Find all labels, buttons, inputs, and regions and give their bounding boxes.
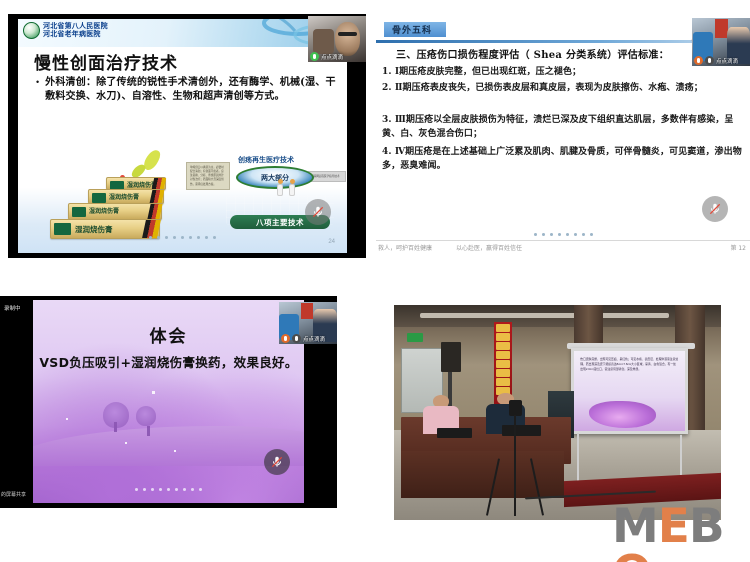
art-ellipse-label: 两大部分	[261, 173, 289, 183]
section-tag-label: 骨外五科	[392, 23, 432, 36]
box-green-tag	[92, 193, 106, 203]
dot	[143, 488, 146, 491]
panel-top-left: 河北省第八人民医院 河北省老年病医院 慢性创面治疗技术 • 外科清创：除了传统的…	[8, 14, 366, 258]
slide-chronic-wound: 河北省第八人民医院 河北省老年病医院 慢性创面治疗技术 • 外科清创：除了传统的…	[18, 19, 347, 253]
sparkle-icon	[125, 442, 127, 444]
dot	[149, 236, 152, 239]
hospital-logo: 河北省第八人民医院 河北省老年病医院	[23, 22, 108, 39]
dot	[590, 233, 593, 236]
tripod-leg	[514, 458, 516, 516]
laptop	[437, 428, 473, 439]
slide-progress-dots	[33, 488, 304, 491]
video-glasses-shape	[338, 32, 357, 36]
box-label: 湿润烧伤膏	[109, 192, 139, 201]
recording-label: 录制中	[4, 304, 21, 312]
art-note-box: 单纯创口以换药为主，必要时配合清创；有创面不愈者，应注意换、分析、查找原因并针对…	[186, 162, 230, 190]
participant-name: 点点滴滴	[716, 57, 738, 65]
microphone-muted-icon	[292, 334, 301, 343]
participant-video-tile[interactable]: 点点滴滴	[692, 18, 750, 66]
dot	[173, 236, 176, 239]
art-heading: 创疡再生医疗技术	[238, 155, 294, 165]
microphone-icon	[310, 52, 319, 61]
avatar-icon	[694, 56, 703, 65]
ceiling-light-strip	[420, 313, 669, 318]
loudspeaker-icon	[441, 342, 461, 372]
footer-page-number: 第 12	[730, 243, 746, 252]
tree-icon	[136, 406, 156, 426]
slide-page-number: 24	[328, 239, 335, 245]
microphone-muted-icon	[708, 202, 722, 216]
watermark-letter-m: M	[612, 503, 658, 550]
conference-room-photo: 伤口皮肤完整，出现可见压痕、呈红色；可见水疱、表皮层、处理渗液需注意处理，若出现…	[394, 305, 721, 520]
dot	[181, 236, 184, 239]
banner-char	[496, 369, 510, 377]
slide-title: 体会	[33, 322, 304, 347]
watermark-letter-o: O	[612, 550, 651, 562]
video-hand-shape	[313, 29, 334, 54]
projector-image-shape	[589, 401, 656, 428]
slide-body: VSD负压吸引+湿润烧伤膏换药，效果良好。	[33, 352, 304, 371]
microphone-muted-icon	[705, 56, 714, 65]
dot	[574, 233, 577, 236]
microphone-muted-icon	[270, 455, 284, 469]
footer-divider	[376, 240, 750, 241]
dot	[191, 488, 194, 491]
ointment-stack-graphic: 湿润烧伤膏 湿润烧伤膏 湿润烧伤膏 湿润烧伤膏	[50, 167, 172, 245]
projector-screen-text: 伤口皮肤完整，出现可见压痕、呈红色；可见水疱、表皮层、处理渗液需注意处理，若出现…	[580, 357, 678, 372]
box-label: 湿润烧伤膏	[89, 206, 119, 215]
screen-share-label: 的屏幕共享	[1, 491, 26, 498]
slide-progress-dots	[18, 236, 347, 239]
slide-item: 4. Ⅳ期压疮是在上述基础上广泛累及肌肉、肌腱及骨质，可伴骨髓炎，可见窦道，渗出…	[382, 146, 742, 173]
dot	[566, 233, 569, 236]
exit-sign-icon	[407, 333, 423, 342]
tripod-pole	[514, 415, 516, 459]
dot	[175, 488, 178, 491]
dot	[199, 488, 202, 491]
video-banner-shape	[301, 303, 313, 319]
banner-char	[496, 324, 510, 332]
hospital-emblem-icon	[23, 22, 40, 39]
art-band-label: 八项主要技术	[256, 217, 304, 228]
sparkle-icon	[66, 418, 68, 420]
participant-video-tile[interactable]: 点点滴滴	[308, 16, 366, 62]
dot	[213, 236, 216, 239]
participant-name-badge: 点点滴滴	[310, 52, 343, 61]
box-label: 湿润烧伤膏	[75, 224, 113, 235]
banner-char	[496, 342, 510, 350]
footer-mid-text: 以心赴医，赢得百姓信任	[456, 243, 522, 252]
banner-char	[496, 360, 510, 368]
dot	[183, 488, 186, 491]
panel-top-right: 骨外五科 三、压疮伤口损伤程度评估（ Shea 分类系统）评估标准： 1. Ⅰ期…	[376, 10, 750, 262]
bullet-marker: •	[36, 76, 39, 104]
participant-name: 点点滴滴	[321, 53, 343, 61]
avatar-icon	[281, 334, 290, 343]
tree-icon	[103, 402, 129, 428]
banner-char	[496, 333, 510, 341]
banner-char	[496, 351, 510, 359]
dot	[197, 236, 200, 239]
camera-icon	[509, 400, 523, 416]
participant-name: 点点滴滴	[303, 335, 325, 343]
panel-bottom-right: 伤口皮肤完整，出现可见压痕、呈红色；可见水疱、表皮层、处理渗液需注意处理，若出现…	[394, 305, 721, 520]
box-stripe	[150, 190, 165, 203]
ointment-box: 湿润烧伤膏	[68, 203, 162, 220]
slide-item: 1. Ⅰ期压疮皮肤完整，但已出现红斑，压之褪色；	[382, 66, 742, 80]
slide-heading: 三、压疮伤口损伤程度评估（ Shea 分类系统）评估标准：	[396, 46, 741, 61]
box-stripe	[152, 178, 166, 189]
box-stripe	[147, 204, 162, 219]
screenshot-root: 河北省第八人民医院 河北省老年病医院 慢性创面治疗技术 • 外科清创：除了传统的…	[0, 0, 750, 562]
dot	[157, 236, 160, 239]
participant-name-badge: 点点滴滴	[281, 334, 325, 343]
watermark-letter-b: B	[689, 503, 724, 550]
slide-progress-dots	[376, 233, 750, 236]
dot	[558, 233, 561, 236]
microphone-muted-icon	[311, 205, 325, 219]
doctor-figure-icon	[276, 179, 284, 197]
mute-indicator-button[interactable]	[702, 196, 728, 222]
dot	[534, 233, 537, 236]
dot	[542, 233, 545, 236]
mebo-watermark: MEBO	[612, 503, 750, 562]
dot	[205, 236, 208, 239]
slide-title: 慢性创面治疗技术	[34, 49, 178, 74]
slide-item: 2. Ⅱ期压疮表皮丧失，已损伤表皮层和真皮层，表现为皮肤擦伤、水疱、溃疡；	[382, 82, 742, 96]
bullet-text: 外科清创：除了传统的锐性手术清创外，还有酶学、机械(湿、干敷料交换、水刀)、自溶…	[45, 76, 336, 104]
participant-name-badge: 点点滴滴	[694, 56, 738, 65]
footer-left-text: 救人，呵护百姓健康	[378, 243, 432, 252]
dot	[550, 233, 553, 236]
banner-char	[496, 378, 510, 386]
dot	[159, 488, 162, 491]
sparkle-icon	[174, 450, 176, 452]
art-ellipse: 两大部分	[236, 166, 314, 189]
tripod-leg	[486, 458, 500, 515]
dot	[167, 488, 170, 491]
slide-item: 3. Ⅲ期压疮以全层皮肤损伤为特征，溃烂已深及皮下组织直达肌层，多数伴有感染，呈…	[382, 114, 742, 141]
section-tag: 骨外五科	[384, 22, 446, 37]
ointment-box: 湿润烧伤膏	[88, 189, 164, 204]
doctor-figure-icon	[288, 179, 296, 197]
mute-indicator-button[interactable]	[305, 199, 331, 225]
dot	[135, 488, 138, 491]
slide-experience: 体会 VSD负压吸引+湿润烧伤膏换药，效果良好。	[33, 300, 304, 503]
mute-indicator-button[interactable]	[264, 449, 290, 475]
participant-video-tile[interactable]: 点点滴滴	[279, 302, 337, 344]
dot	[582, 233, 585, 236]
box-green-tag	[72, 207, 86, 217]
hospital-name-line2: 河北省老年病医院	[43, 31, 108, 38]
slide-bullet: • 外科清创：除了传统的锐性手术清创外，还有酶学、机械(湿、干敷料交换、水刀)、…	[36, 76, 336, 104]
dot	[165, 236, 168, 239]
sparkle-icon	[152, 391, 155, 394]
watermark-letter-e: E	[658, 503, 689, 550]
dot	[151, 488, 154, 491]
dot	[189, 236, 192, 239]
box-green-tag	[54, 223, 71, 235]
projector-screen: 伤口皮肤完整，出现可见压痕、呈红色；可见水疱、表皮层、处理渗液需注意处理，若出现…	[571, 348, 689, 434]
panel-bottom-left: 录制中 的屏幕共享 体会 VSD负压吸引+湿润烧伤膏换药，效果良好。	[0, 296, 337, 508]
